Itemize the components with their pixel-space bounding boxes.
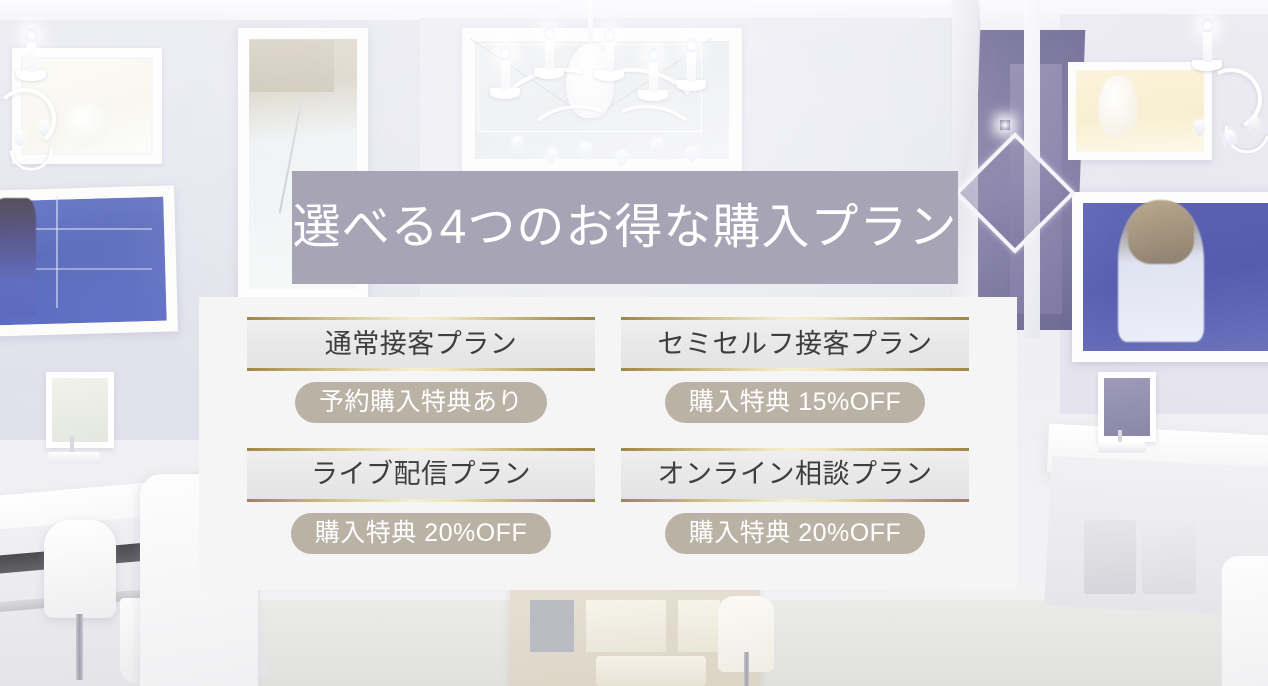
plan-header-live-stream: ライブ配信プラン <box>247 448 595 502</box>
plan-badge-standard: 予約購入特典あり <box>295 382 547 423</box>
candle-flame <box>604 28 615 43</box>
candle <box>501 60 510 90</box>
headline-banner: 選べる4つのお得な購入プラン <box>292 171 958 284</box>
plan-badge-text-live-stream: 購入特典 20%OFF <box>315 521 527 546</box>
plans-panel: 通常接客プラン 予約購入特典あり セミセルフ接客プラン 購入特典 15%OFF … <box>199 297 1017 590</box>
wall-sconce-right <box>1186 18 1268 158</box>
person-silhouette-left <box>0 198 36 316</box>
tabletop-mirror-left-base <box>48 452 100 464</box>
candle <box>1203 32 1212 62</box>
candle-flame <box>1202 18 1213 33</box>
candle-flame <box>686 38 697 53</box>
plan-header-semi-self: セミセルフ接客プラン <box>621 317 969 371</box>
bench-seat-cushion <box>596 656 706 686</box>
storage-bin-right-a <box>1084 520 1136 594</box>
sparkle-highlight <box>1000 120 1010 130</box>
promo-banner-stage: 選べる4つのお得な購入プラン 通常接客プラン 予約購入特典あり セミセルフ接客プ… <box>0 0 1268 686</box>
storage-bin-right-b <box>1142 516 1196 594</box>
plan-title-live-stream: ライブ配信プラン <box>311 461 531 488</box>
candle-flame <box>26 28 37 43</box>
candle-flame <box>500 46 511 61</box>
crystal-drop <box>616 150 627 166</box>
person-hair-right <box>1128 200 1194 264</box>
salon-chair-left <box>44 520 116 618</box>
plan-title-semi-self: セミセルフ接客プラン <box>658 331 933 358</box>
plan-card-live-stream[interactable]: ライブ配信プラン 購入特典 20%OFF <box>247 448 595 573</box>
white-partition-right <box>1222 556 1268 686</box>
candle <box>687 52 696 82</box>
plan-badge-text-online-consult: 購入特典 20%OFF <box>689 521 901 546</box>
candle-flame <box>544 26 555 41</box>
plan-badge-live-stream: 購入特典 20%OFF <box>291 513 551 554</box>
chandelier-center <box>470 0 720 172</box>
crystal-drop <box>580 142 591 158</box>
candle <box>649 62 658 92</box>
plan-badge-semi-self: 購入特典 15%OFF <box>665 382 925 423</box>
bench-shelf-opening <box>530 600 574 652</box>
plan-badge-online-consult: 購入特典 20%OFF <box>665 513 925 554</box>
wall-sconce-left <box>0 34 76 164</box>
tabletop-mirror-left <box>46 372 114 448</box>
plan-badge-text-semi-self: 購入特典 15%OFF <box>689 390 901 415</box>
page-title: 選べる4つのお得な購入プラン <box>293 204 958 252</box>
crystal-drop <box>1194 120 1205 136</box>
plan-card-semi-self[interactable]: セミセルフ接客プラン 購入特典 15%OFF <box>621 317 969 442</box>
candle <box>27 42 36 72</box>
salon-chair-left-pole <box>76 614 83 680</box>
bench-cushion-upper <box>586 600 666 652</box>
window-pane-divider-vertical <box>56 196 58 308</box>
salon-chair-center-leg <box>744 652 749 686</box>
plan-card-online-consult[interactable]: オンライン相談プラン 購入特典 20%OFF <box>621 448 969 573</box>
white-vase <box>1098 76 1138 138</box>
plan-title-standard: 通常接客プラン <box>325 331 518 358</box>
candle <box>605 42 614 72</box>
tabletop-mirror-right <box>1098 372 1156 442</box>
candle <box>545 40 554 70</box>
window-blind-reflection <box>250 40 334 92</box>
candle-flame <box>648 48 659 63</box>
plan-card-standard[interactable]: 通常接客プラン 予約購入特典あり <box>247 317 595 442</box>
bench-cushion-side <box>678 600 720 652</box>
plan-header-online-consult: オンライン相談プラン <box>621 448 969 502</box>
crystal-drop <box>686 146 697 162</box>
plan-badge-text-standard: 予約購入特典あり <box>319 390 523 415</box>
plan-header-standard: 通常接客プラン <box>247 317 595 371</box>
crystal-drop <box>512 136 523 152</box>
tabletop-mirror-right-base <box>1098 442 1146 453</box>
plan-title-online-consult: オンライン相談プラン <box>658 461 933 488</box>
crystal-drop <box>546 148 557 164</box>
